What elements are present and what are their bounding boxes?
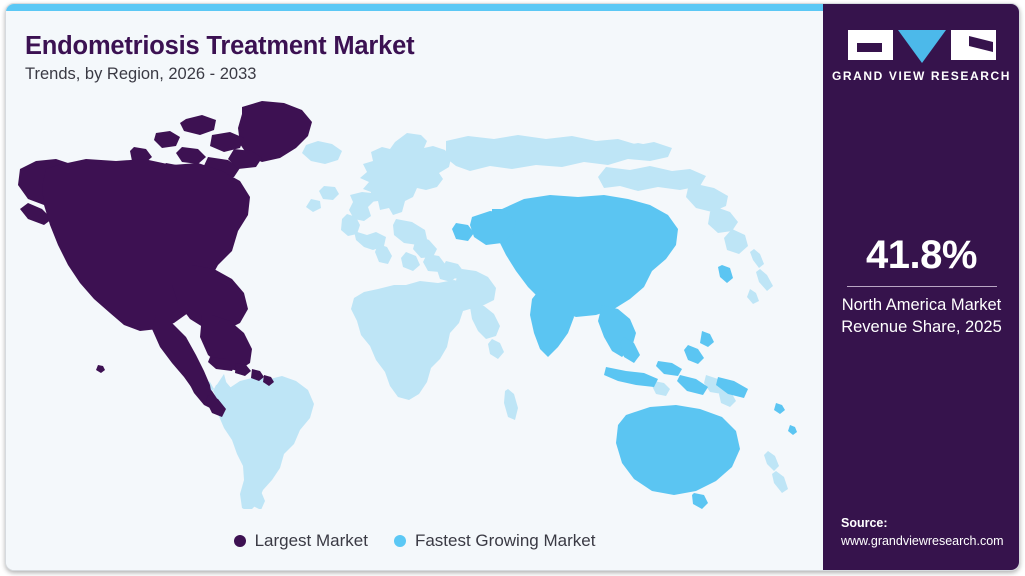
page-subtitle: Trends, by Region, 2026 - 2033 [25, 65, 256, 84]
map-pane: Endometriosis Treatment Market Trends, b… [6, 11, 823, 570]
stat-caption-line2: Revenue Share, 2025 [823, 317, 1020, 339]
stat-divider [847, 286, 997, 287]
map-legend: Largest Market Fastest Growing Market [6, 531, 823, 551]
legend-label-largest: Largest Market [255, 531, 368, 551]
legend-dot-largest-icon [234, 535, 246, 547]
gvr-letter-v-icon [898, 30, 946, 63]
stat-block: 41.8% North America Market Revenue Share… [823, 234, 1020, 339]
source-block: Source: www.grandviewresearch.com [841, 514, 1020, 550]
page-title: Endometriosis Treatment Market [25, 32, 414, 61]
legend-item-largest[interactable]: Largest Market [234, 531, 368, 551]
world-map-svg [6, 89, 823, 509]
infographic-card: Endometriosis Treatment Market Trends, b… [5, 3, 1020, 571]
gvr-logo-marks [848, 30, 996, 60]
world-map[interactable] [6, 89, 823, 509]
legend-dot-fastest-icon [394, 535, 406, 547]
top-accent-bar [6, 4, 823, 11]
legend-item-fastest[interactable]: Fastest Growing Market [394, 531, 595, 551]
source-url[interactable]: www.grandviewresearch.com [841, 532, 1020, 550]
gvr-logo[interactable]: GRAND VIEW RESEARCH [823, 30, 1020, 83]
gvr-letter-r-icon [951, 30, 996, 60]
source-label: Source: [841, 514, 1020, 532]
infographic-root: Endometriosis Treatment Market Trends, b… [0, 0, 1025, 576]
stat-caption-line1: North America Market [823, 295, 1020, 317]
legend-label-fastest: Fastest Growing Market [415, 531, 595, 551]
gvr-wordmark: GRAND VIEW RESEARCH [832, 69, 1011, 83]
side-panel: GRAND VIEW RESEARCH 41.8% North America … [823, 4, 1020, 571]
stat-value: 41.8% [823, 234, 1020, 276]
gvr-letter-g-icon [848, 30, 893, 60]
